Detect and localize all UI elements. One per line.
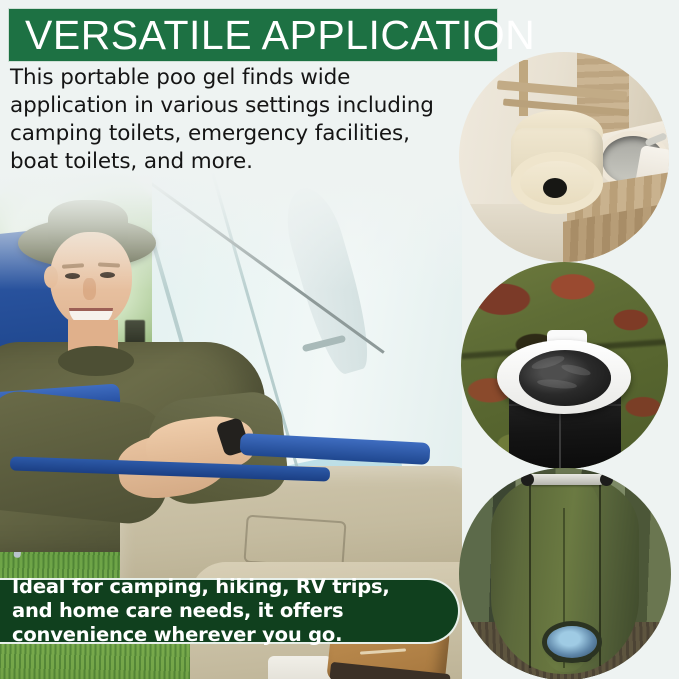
tent-bar-cap [521, 473, 534, 486]
tent-seam [529, 482, 531, 668]
intro-paragraph: This portable poo gel finds wide applica… [10, 64, 462, 176]
circle-photo-rv-bathroom [459, 52, 669, 262]
footer-banner: Ideal for camping, hiking, RV trips, and… [0, 578, 460, 644]
tent-top-bar [527, 474, 605, 485]
photo-top-fade [0, 170, 462, 290]
sweater-collar [58, 346, 134, 376]
sock [268, 656, 332, 679]
portable-toilet-inside-tent [547, 626, 597, 658]
black-waste-bag [519, 350, 611, 406]
rv-toilet-bowl-opening [543, 178, 567, 198]
header-banner: VERSATILE APPLICATION [8, 8, 498, 62]
footer-banner-text: Ideal for camping, hiking, RV trips, and… [0, 575, 458, 646]
page-title: VERSATILE APPLICATION [9, 15, 535, 56]
circle-photo-camping-toilet [461, 262, 668, 469]
tent-seam [599, 482, 601, 666]
product-infographic: VERSATILE APPLICATION This portable poo … [0, 0, 679, 679]
circle-photo-privacy-tent [459, 468, 671, 679]
tent-bar-cap [600, 473, 613, 486]
